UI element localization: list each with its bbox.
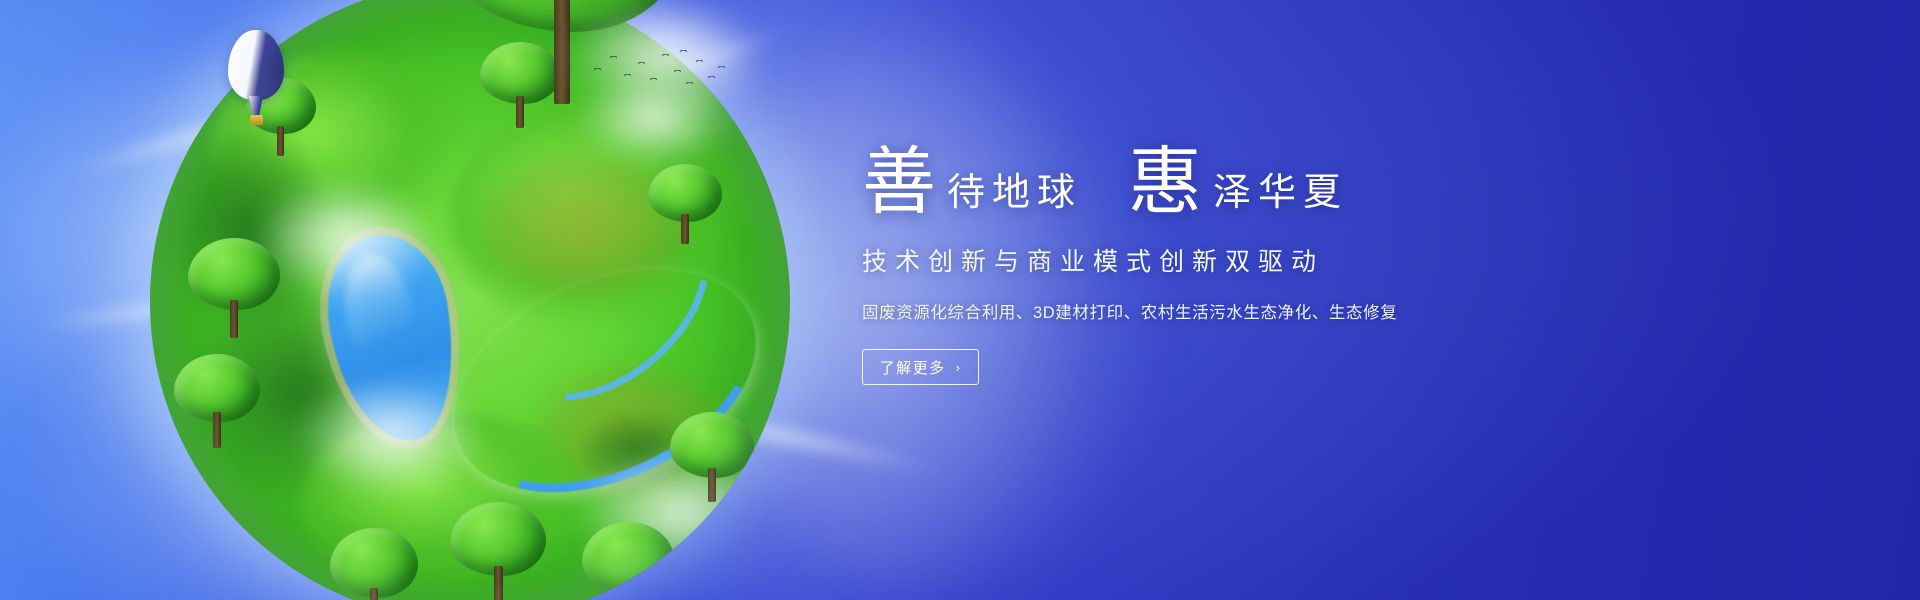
hero-description: 固废资源化综合利用、3D建材打印、农村生活污水生态净化、生态修复: [862, 299, 1622, 323]
globe-tree: [648, 164, 722, 244]
hero-banner: 善 待地球 惠 泽华夏 技术创新与商业模式创新双驱动 固废资源化综合利用、3D建…: [0, 0, 1920, 600]
bird-icon: [680, 50, 687, 54]
terrain-patch: [450, 102, 750, 332]
globe-tree: [582, 522, 674, 600]
learn-more-button[interactable]: 了解更多 ›: [862, 349, 979, 385]
page-title: 善 待地球 惠 泽华夏: [862, 128, 1622, 220]
headline-rest-1: 待地球: [937, 174, 1082, 220]
mist-cloud: [260, 182, 430, 292]
terrain-patch: [170, 132, 330, 332]
headline-lead-2: 惠: [1128, 147, 1203, 220]
globe-tree: [670, 412, 754, 502]
globe-tree: [330, 528, 418, 600]
terrain-patch: [190, 282, 410, 502]
hero-copy: 善 待地球 惠 泽华夏 技术创新与商业模式创新双驱动 固废资源化综合利用、3D建…: [862, 128, 1622, 385]
balloon-neck: [249, 96, 263, 116]
bird-icon: [708, 76, 715, 80]
bird-icon: [686, 82, 693, 86]
lake-highlight: [337, 250, 421, 379]
headline-rest-2: 泽华夏: [1203, 174, 1348, 220]
globe-tree: [174, 354, 260, 446]
terrain-patch: [530, 362, 730, 502]
bird-icon: [638, 62, 645, 66]
globe-tree: [188, 238, 280, 336]
bird-flock: [590, 48, 730, 96]
river-branch: [456, 159, 748, 441]
mist-cloud: [300, 382, 480, 492]
balloon-envelope: [228, 30, 284, 100]
hot-air-balloon-icon: [228, 30, 284, 134]
terrain-patch: [480, 152, 690, 302]
bird-icon: [650, 78, 657, 82]
bird-icon: [696, 60, 703, 64]
lake: [316, 226, 467, 450]
bird-icon: [674, 70, 681, 74]
chevron-right-icon: ›: [956, 360, 962, 375]
bird-icon: [594, 68, 601, 72]
bird-icon: [718, 66, 725, 70]
headline-lead-1: 善: [862, 147, 937, 220]
bird-icon: [624, 74, 631, 78]
balloon-basket: [250, 115, 263, 125]
terrain-patch: [300, 412, 600, 592]
bird-icon: [610, 56, 617, 60]
bird-icon: [662, 54, 669, 58]
terrain-patch: [580, 412, 700, 492]
hero-subtitle: 技术创新与商业模式创新双驱动: [862, 242, 1622, 278]
globe-tree: [450, 502, 546, 600]
learn-more-label: 了解更多: [880, 357, 946, 378]
